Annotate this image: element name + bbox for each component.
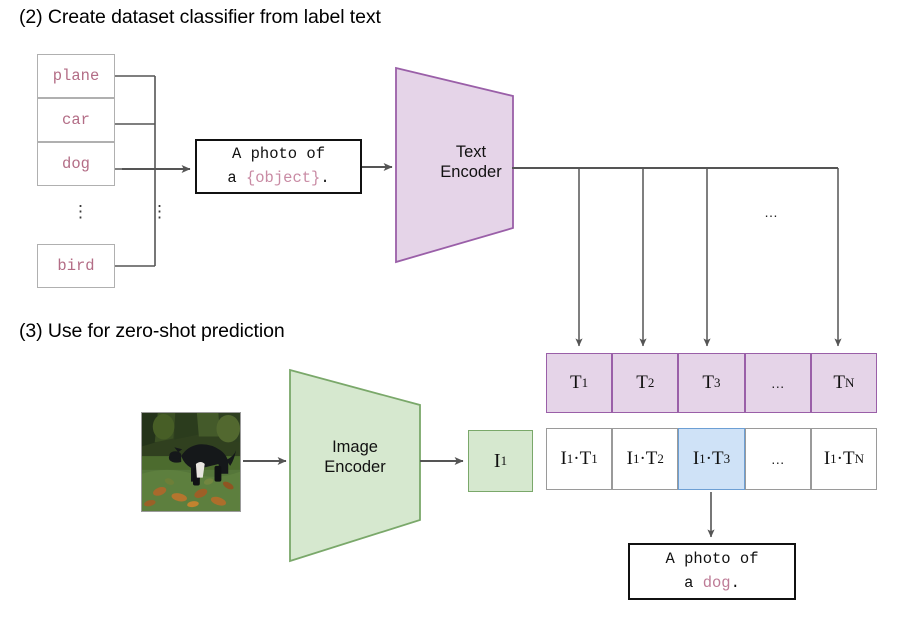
text-embedding-cell-n[interactable]: TN <box>811 353 877 413</box>
prediction-line2-prefix: a <box>684 574 703 592</box>
prediction-line2-suffix: . <box>731 574 740 592</box>
prediction-class-token: dog <box>703 574 731 592</box>
prediction-line-2: a dog. <box>684 572 740 595</box>
cell-subscript: 1 <box>501 453 508 469</box>
label-box-plane[interactable]: plane <box>37 54 115 98</box>
similarity-cell-ellipsis: … <box>745 428 811 490</box>
input-photo[interactable] <box>141 412 241 512</box>
section-title-zero-shot-prediction: (3) Use for zero-shot prediction <box>19 320 285 343</box>
image-embedding-box[interactable]: I1 <box>468 430 533 492</box>
similarity-cell-2[interactable]: I1·T2 <box>612 428 678 490</box>
image-encoder-shape <box>290 370 420 561</box>
label-text: car <box>62 111 90 129</box>
cell-subscript: 3 <box>714 375 721 391</box>
cell-symbol: … <box>771 375 785 391</box>
section-title-create-classifier: (2) Create dataset classifier from label… <box>19 6 381 29</box>
cell-symbol: I <box>494 450 501 473</box>
cell-right-symbol: T <box>646 448 658 470</box>
label-box-dog[interactable]: dog <box>37 142 115 186</box>
label-to-prompt-connectors <box>115 76 155 266</box>
label-list-ellipsis-right: ⋮ <box>151 203 168 220</box>
label-box-bird[interactable]: bird <box>37 244 115 288</box>
text-embedding-cell-ellipsis: … <box>745 353 811 413</box>
text-embedding-cell-3[interactable]: T3 <box>678 353 744 413</box>
clip-zero-shot-diagram: (2) Create dataset classifier from label… <box>0 0 906 624</box>
prediction-line-1: A photo of <box>665 548 758 571</box>
prompt-line-1: A photo of <box>232 143 325 166</box>
prompt-line2-prefix: a <box>227 169 246 187</box>
prompt-object-slot: {object} <box>246 169 320 187</box>
text-embedding-cell-2[interactable]: T2 <box>612 353 678 413</box>
text-encoder-bus-ellipsis: … <box>756 203 786 221</box>
cell-symbol: T <box>636 372 648 394</box>
cell-symbol: T <box>833 372 845 394</box>
cell-subscript: 2 <box>648 375 655 391</box>
cell-right-subscript: 2 <box>657 451 664 467</box>
cell-right-subscript: N <box>855 451 864 467</box>
prompt-line2-suffix: . <box>320 169 329 187</box>
label-text: bird <box>57 257 94 275</box>
label-text: plane <box>53 67 100 85</box>
similarity-cell-n[interactable]: I1·TN <box>811 428 877 490</box>
prompt-line-2: a {object}. <box>227 167 329 190</box>
similarity-cell-1[interactable]: I1·T1 <box>546 428 612 490</box>
cell-right-subscript: 1 <box>591 451 598 467</box>
text-encoder-output-bus <box>512 168 838 346</box>
text-embedding-cell-1[interactable]: T1 <box>546 353 612 413</box>
cell-subscript: N <box>845 375 854 391</box>
cell-right-symbol: T <box>843 448 855 470</box>
label-list-ellipsis-left: ⋮ <box>72 203 89 220</box>
prompt-template-box[interactable]: A photo of a {object}. <box>195 139 362 194</box>
cell-symbol: T <box>570 372 582 394</box>
label-text: dog <box>62 155 90 173</box>
cell-right-symbol: T <box>712 448 724 470</box>
connector-layer <box>0 0 906 624</box>
cell-symbol: T <box>702 372 714 394</box>
cell-left-symbol: … <box>771 451 785 467</box>
input-photo-artwork <box>142 413 240 511</box>
similarity-cell-3-selected[interactable]: I1·T3 <box>678 428 744 490</box>
text-encoder-shape <box>396 68 513 262</box>
cell-subscript: 1 <box>582 375 589 391</box>
cell-right-subscript: 3 <box>724 451 731 467</box>
prediction-output-box: A photo of a dog. <box>628 543 796 600</box>
label-box-car[interactable]: car <box>37 98 115 142</box>
cell-right-symbol: T <box>580 448 592 470</box>
